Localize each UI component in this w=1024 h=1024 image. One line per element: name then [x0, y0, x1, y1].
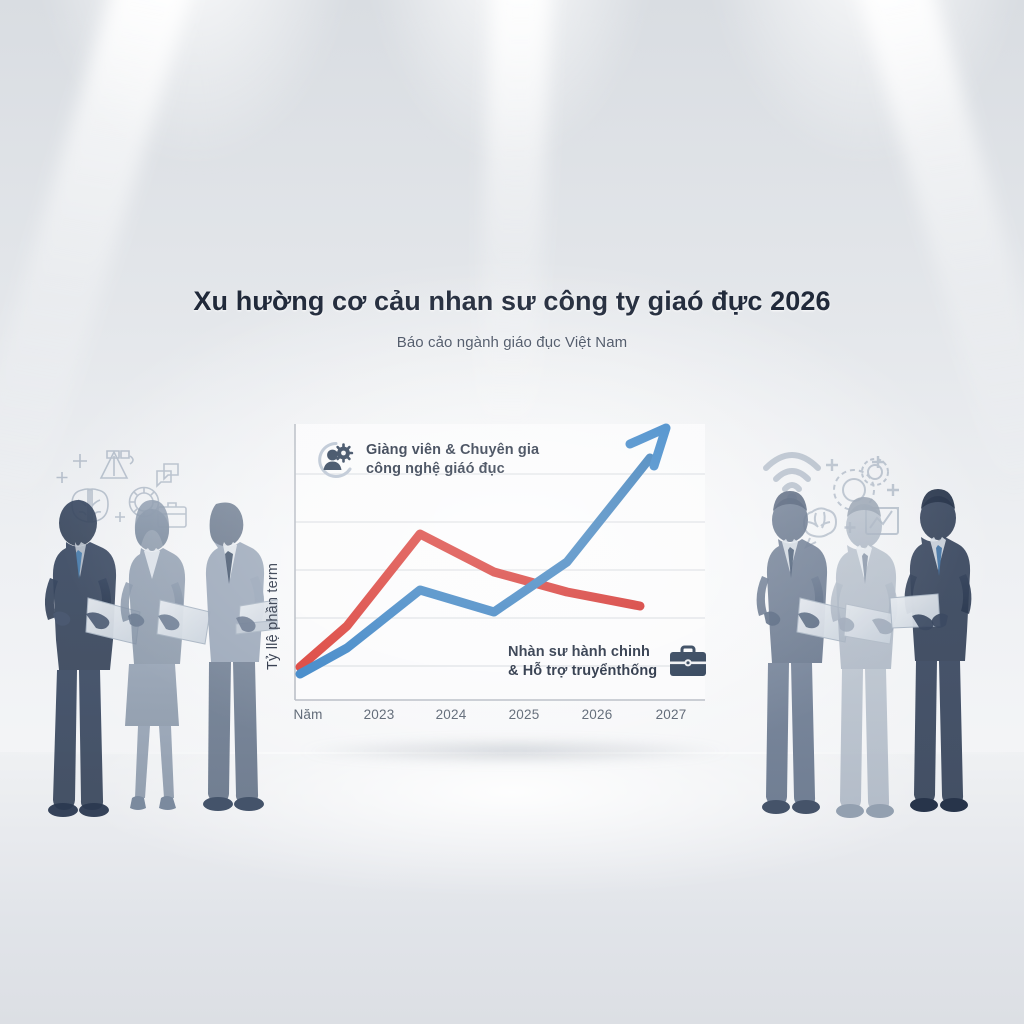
- business-people-silhouettes-left: [28, 438, 278, 838]
- person-silhouette: [45, 500, 140, 817]
- person-gear-icon: [316, 440, 356, 480]
- x-axis-tick-2025: 2025: [496, 707, 552, 722]
- chart-drop-shadow: [300, 738, 730, 764]
- person-silhouette: [831, 497, 898, 818]
- x-axis-tick-2026: 2026: [569, 707, 625, 722]
- x-axis-tick-2024: 2024: [423, 707, 479, 722]
- x-axis-tick-2023: 2023: [351, 707, 407, 722]
- y-axis-label: Tỷ llệ phần term: [265, 330, 281, 500]
- x-axis-tick-2027: 2027: [643, 707, 699, 722]
- x-axis-origin-label: Năm: [280, 707, 336, 722]
- person-silhouette: [121, 500, 210, 810]
- headline-block: Xu hường cơ cảu nhan sư công ty giaó đực…: [0, 286, 1024, 351]
- page-subtitle: Báo cảo ngành giáo đục Việt Nam: [0, 334, 1024, 351]
- gear-icon: [335, 445, 352, 462]
- legend-label-education-line1: Giàng viên & Chuyên gia: [366, 441, 539, 460]
- legend-label-education-line2: công nghệ giáó đục: [366, 460, 539, 479]
- person-silhouette: [890, 489, 971, 812]
- silhouette-reflections-left: [49, 837, 257, 838]
- business-people-silhouettes-right: [742, 438, 992, 838]
- y-axis-label-text: Tỷ llệ phần term: [265, 563, 281, 670]
- person-silhouette: [757, 491, 850, 814]
- poster-canvas: Xu hường cơ cảu nhan sư công ty giaó đực…: [0, 0, 1024, 1024]
- legend-label-education: Giàng viên & Chuyên gia công nghệ giáó đ…: [366, 441, 539, 478]
- legend-label-admin-line1: Nhàn sư hành chinh: [508, 643, 657, 662]
- legend-label-admin-line2: & Hỗ trợ truyểnthống: [508, 662, 657, 681]
- page-title: Xu hường cơ cảu nhan sư công ty giaó đực…: [0, 286, 1024, 317]
- briefcase-icon: [667, 644, 709, 680]
- legend-label-admin: Nhàn sư hành chinh & Hỗ trợ truyểnthống: [508, 643, 657, 680]
- legend-item-admin[interactable]: Nhàn sư hành chinh & Hỗ trợ truyểnthống: [508, 643, 709, 680]
- legend-item-education[interactable]: Giàng viên & Chuyên gia công nghệ giáó đ…: [316, 440, 539, 480]
